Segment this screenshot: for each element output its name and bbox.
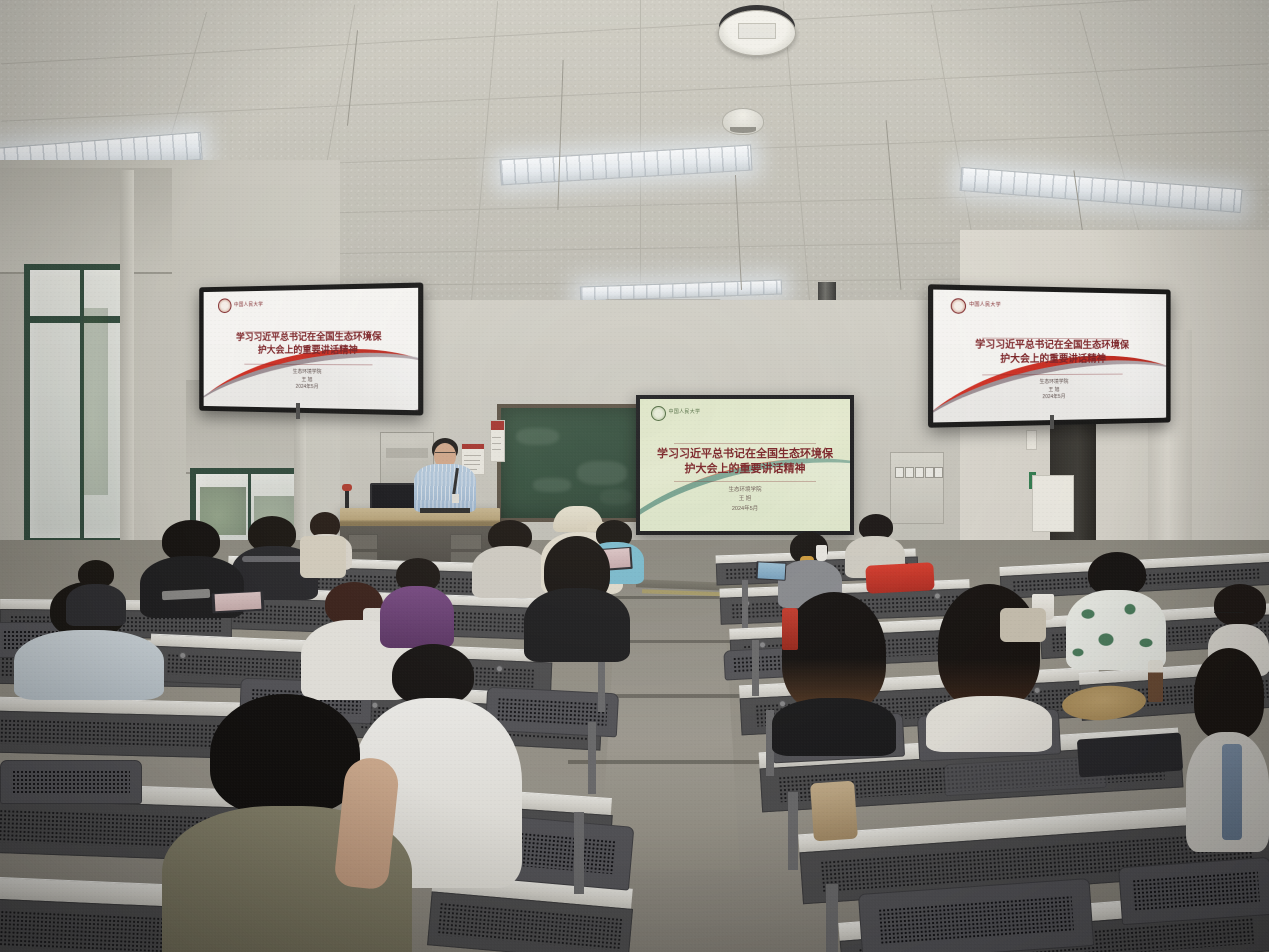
smoke-detector-icon	[722, 108, 764, 135]
slide-title-line1: 学习习近平总书记在全国生态环境保	[653, 447, 838, 463]
left-display-bracket	[296, 403, 300, 419]
window-left-near	[24, 264, 132, 544]
student-rear-far-left	[66, 560, 126, 622]
chalkboard	[497, 404, 651, 522]
lecturer	[414, 438, 476, 520]
university-logo: 中国人民大学	[218, 298, 264, 313]
slide-title-line1: 学习习近平总书记在全国生态环境保	[218, 332, 402, 345]
laptop-bag	[1077, 732, 1183, 777]
lecturer-shirt	[414, 464, 476, 512]
slide-date: 2024年5月	[640, 505, 850, 514]
right-display-bracket	[1050, 415, 1054, 429]
university-seal-icon	[218, 298, 232, 313]
university-logo: 中国人民大学	[951, 298, 1001, 314]
denim-strap	[1222, 744, 1242, 840]
wall-notice	[1026, 430, 1037, 450]
chair-back	[0, 760, 142, 804]
projection-screen[interactable]: 中国人民大学 学习习近平总书记在全国生态环境保 护大会上的重要讲话精神 生态环境…	[636, 395, 854, 535]
student-ponytail-black	[524, 536, 630, 658]
lecturer-belt	[420, 508, 470, 513]
classroom-photo: EPSON	[0, 0, 1269, 952]
chair-back	[1118, 857, 1269, 925]
laptop-device[interactable]	[756, 561, 787, 581]
desk-leg	[752, 640, 759, 696]
slide-title-line2: 护大会上的重要讲话精神	[951, 353, 1151, 367]
small-whiteboard	[1032, 475, 1074, 532]
tablet-device[interactable]	[212, 591, 265, 614]
left-wall-display[interactable]: 中国人民大学 学习习近平总书记在全国生态环境保 护大会上的重要讲话精神 生态环境…	[199, 282, 423, 415]
wall-poster	[490, 420, 505, 462]
desk-leg	[574, 812, 584, 894]
glasses-icon	[435, 452, 455, 456]
wall-column-left	[120, 170, 134, 550]
student-right-edge-denim	[1186, 648, 1269, 848]
slide-department: 生态环境学院	[640, 486, 850, 495]
desk-leg	[742, 580, 748, 628]
slide-title-line1: 学习习近平总书记在全国生态环境保	[951, 339, 1151, 353]
university-name: 中国人民大学	[669, 410, 701, 416]
desk-leg	[588, 722, 596, 794]
student-purple	[380, 558, 454, 646]
right-wall-display[interactable]: 中国人民大学 学习习近平总书记在全国生态环境保 护大会上的重要讲话精神 生态环境…	[928, 284, 1171, 428]
floral-pattern	[1066, 590, 1166, 670]
right-slide: 中国人民大学 学习习近平总书记在全国生态环境保 护大会上的重要讲话精神 生态环境…	[933, 290, 1166, 423]
student-floral-top	[1066, 552, 1166, 666]
left-slide: 中国人民大学 学习习近平总书记在全国生态环境保 护大会上的重要讲话精神 生态环境…	[204, 288, 418, 410]
water-bottle	[1148, 660, 1163, 702]
university-name: 中国人民大学	[234, 302, 263, 308]
floor-step-edge	[568, 760, 784, 764]
university-seal-icon	[651, 406, 666, 421]
slide-title-line2: 护大会上的重要讲话精神	[653, 462, 838, 478]
student-foreground-olive	[162, 694, 412, 952]
slide-title-line2: 护大会上的重要讲话精神	[218, 345, 402, 358]
red-bottle	[782, 608, 798, 650]
desk-leg	[788, 792, 798, 870]
window-blind[interactable]	[0, 168, 172, 274]
university-logo: 中国人民大学	[651, 406, 701, 421]
paper-cup	[816, 545, 827, 561]
slide-presenter: 王 旭	[640, 495, 850, 504]
ceiling-speaker-icon	[718, 10, 796, 56]
student-rear-bag	[300, 530, 346, 578]
desk-leg	[826, 884, 838, 952]
tote-bag	[810, 781, 858, 842]
university-seal-icon	[951, 298, 966, 314]
university-name: 中国人民大学	[969, 303, 1001, 309]
center-slide: 中国人民大学 学习习近平总书记在全国生态环境保 护大会上的重要讲话精神 生态环境…	[640, 399, 850, 531]
badge	[452, 494, 459, 503]
red-jacket	[865, 562, 934, 594]
backpack	[1000, 608, 1046, 642]
